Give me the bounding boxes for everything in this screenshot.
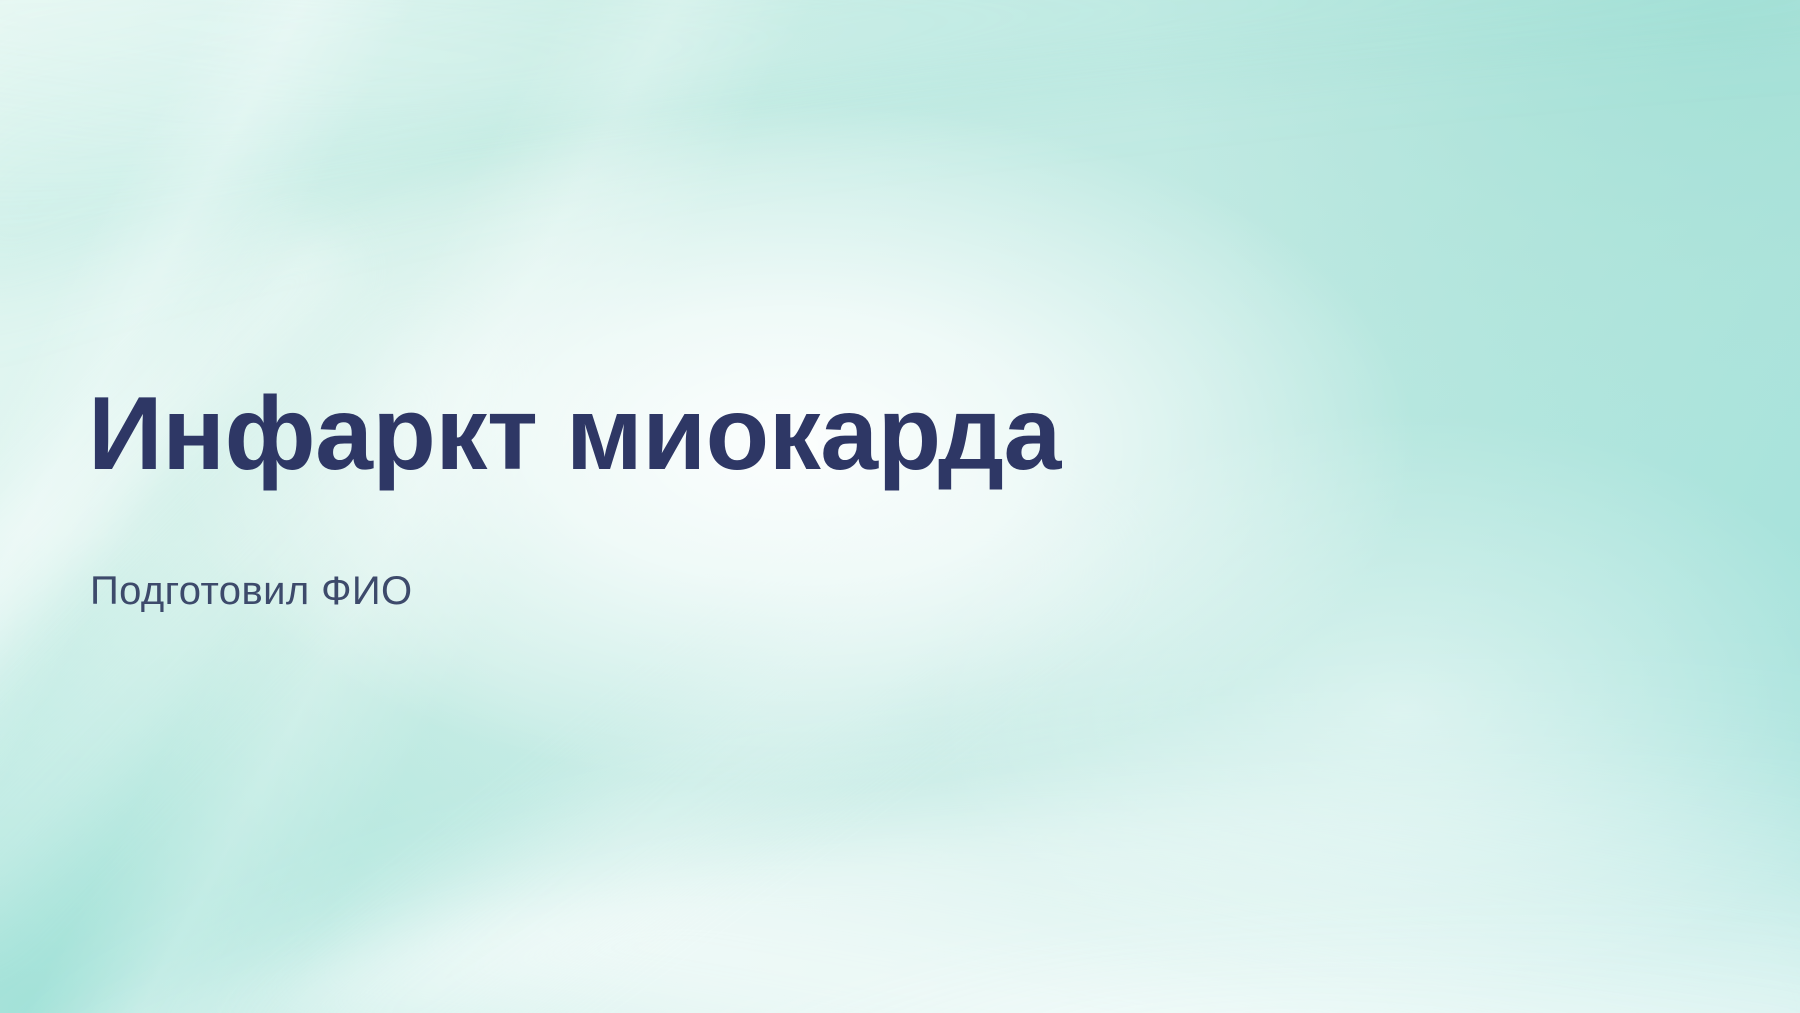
slide-subtitle-author: Подготовил ФИО [90,567,413,615]
slide-content: Инфаркт миокарда Подготовил ФИО [88,0,1588,1013]
title-slide: Инфаркт миокарда Подготовил ФИО [0,0,1800,1013]
slide-title: Инфаркт миокарда [88,382,1061,486]
